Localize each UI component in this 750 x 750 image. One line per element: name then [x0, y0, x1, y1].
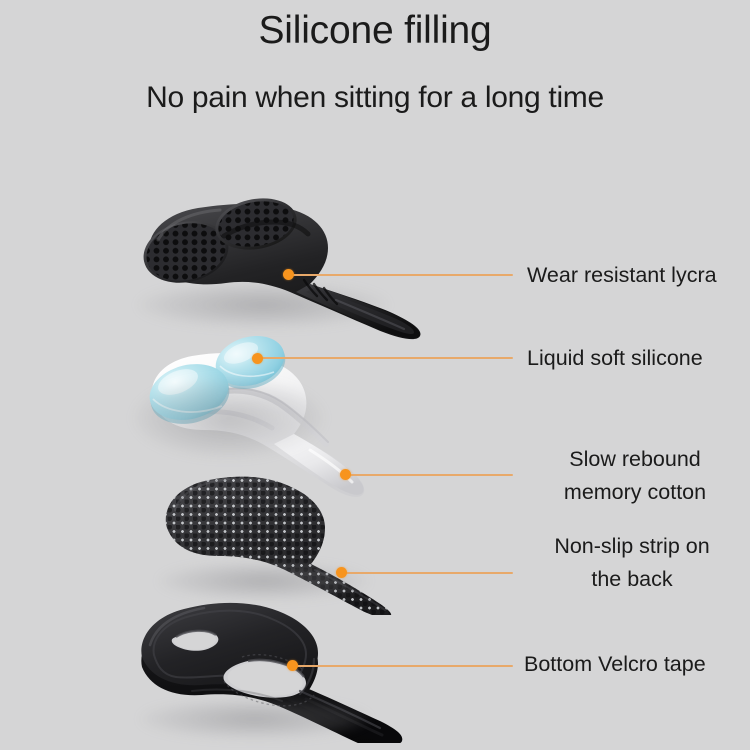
callout-text-line-1: Slow rebound [569, 447, 700, 471]
callout-label-liquid-soft-silicone: Liquid soft silicone [527, 342, 703, 375]
non-slip-pad-illustration [155, 470, 425, 615]
callout-label-non-slip-strip-on-the-back: Non-slip strip on the back [532, 530, 732, 596]
callout-text-line-2: memory cotton [545, 476, 725, 509]
leader-dot-non-slip-strip-on-the-back [336, 567, 347, 578]
leader-line-liquid-soft-silicone [261, 357, 513, 359]
callout-text-line-2: the back [532, 563, 732, 596]
leader-dot-wear-resistant-lycra [283, 269, 294, 280]
black-saddle-cover-illustration [128, 196, 428, 341]
leader-dot-slow-rebound-memory-cotton [340, 469, 351, 480]
infographic-canvas: Silicone filling No pain when sitting fo… [0, 0, 750, 750]
callout-text-line-1: Bottom Velcro tape [524, 652, 706, 676]
callout-label-bottom-velcro-tape: Bottom Velcro tape [524, 648, 706, 681]
callout-text-line-1: Wear resistant lycra [527, 263, 717, 287]
callout-text-line-1: Non-slip strip on [554, 534, 709, 558]
callout-text-line-1: Liquid soft silicone [527, 346, 703, 370]
bottom-shell-illustration [132, 595, 412, 743]
callout-label-wear-resistant-lycra: Wear resistant lycra [527, 259, 717, 292]
leader-line-bottom-velcro-tape [296, 665, 513, 667]
leader-line-wear-resistant-lycra [290, 274, 513, 276]
leader-line-non-slip-strip-on-the-back [345, 572, 513, 574]
leader-line-slow-rebound-memory-cotton [349, 474, 513, 476]
product-layer-black-saddle-cover [128, 196, 428, 341]
page-title: Silicone filling [0, 8, 750, 54]
leader-dot-bottom-velcro-tape [287, 660, 298, 671]
leader-dot-liquid-soft-silicone [252, 353, 263, 364]
callout-label-slow-rebound-memory-cotton: Slow rebound memory cotton [545, 443, 725, 509]
product-layer-bottom-shell [132, 595, 412, 740]
page-subtitle: No pain when sitting for a long time [0, 80, 750, 115]
product-layer-non-slip-pad [155, 470, 425, 615]
